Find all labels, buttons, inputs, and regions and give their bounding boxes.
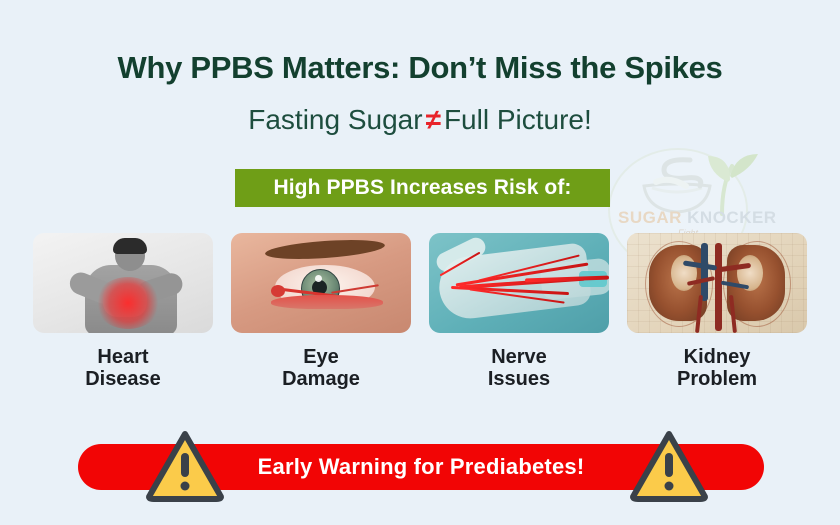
infographic-poster: SUGAR KNOCKER Fight Why PPBS Matters: Do… — [0, 0, 840, 525]
heart-chest-pain-image — [33, 233, 213, 333]
subtitle-after: Full Picture! — [444, 104, 592, 135]
kidney-anatomy-image — [627, 233, 807, 333]
warning-triangle-icon — [630, 429, 708, 503]
subtitle-before: Fasting Sugar — [248, 104, 422, 135]
mortar-pestle-icon — [634, 156, 720, 218]
hair-shape — [113, 238, 147, 254]
vena-cava-vessel — [701, 243, 708, 301]
page-title: Why PPBS Matters: Don’t Miss the Spikes — [0, 50, 840, 86]
not-equal-icon: ≠ — [423, 104, 444, 135]
hand-nerves-image — [429, 233, 609, 333]
watermark-brand-second: KNOCKER — [687, 208, 776, 227]
leaf-icon — [692, 152, 762, 218]
lower-eyelid-shape — [271, 295, 383, 309]
red-irritated-eye-image — [231, 233, 411, 333]
eye-highlight — [315, 275, 322, 282]
eyebrow-shape — [265, 237, 386, 262]
page-subtitle: Fasting Sugar≠Full Picture! — [0, 104, 840, 136]
risk-card-eye: Eye Damage — [231, 233, 411, 391]
watermark-brand-first: SUGAR — [618, 208, 682, 227]
risk-card-heart: Heart Disease — [33, 233, 213, 391]
watermark-brand: SUGAR KNOCKER — [618, 208, 758, 228]
risk-banner-label: High PPBS Increases Risk of: — [273, 176, 571, 200]
risk-banner: High PPBS Increases Risk of: — [235, 169, 610, 207]
eye-corner-redness — [271, 285, 285, 297]
risk-card-row: Heart Disease Eye Damage — [0, 233, 840, 391]
risk-card-nerve: Nerve Issues — [429, 233, 609, 391]
risk-card-label: Nerve Issues — [429, 346, 609, 391]
aorta-vessel — [715, 243, 722, 331]
pain-glow — [95, 277, 161, 329]
warning-triangle-icon — [146, 429, 224, 503]
risk-card-label: Eye Damage — [231, 346, 411, 391]
risk-card-kidney: Kidney Problem — [627, 233, 807, 391]
risk-card-label: Kidney Problem — [627, 346, 807, 391]
risk-card-label: Heart Disease — [33, 346, 213, 391]
